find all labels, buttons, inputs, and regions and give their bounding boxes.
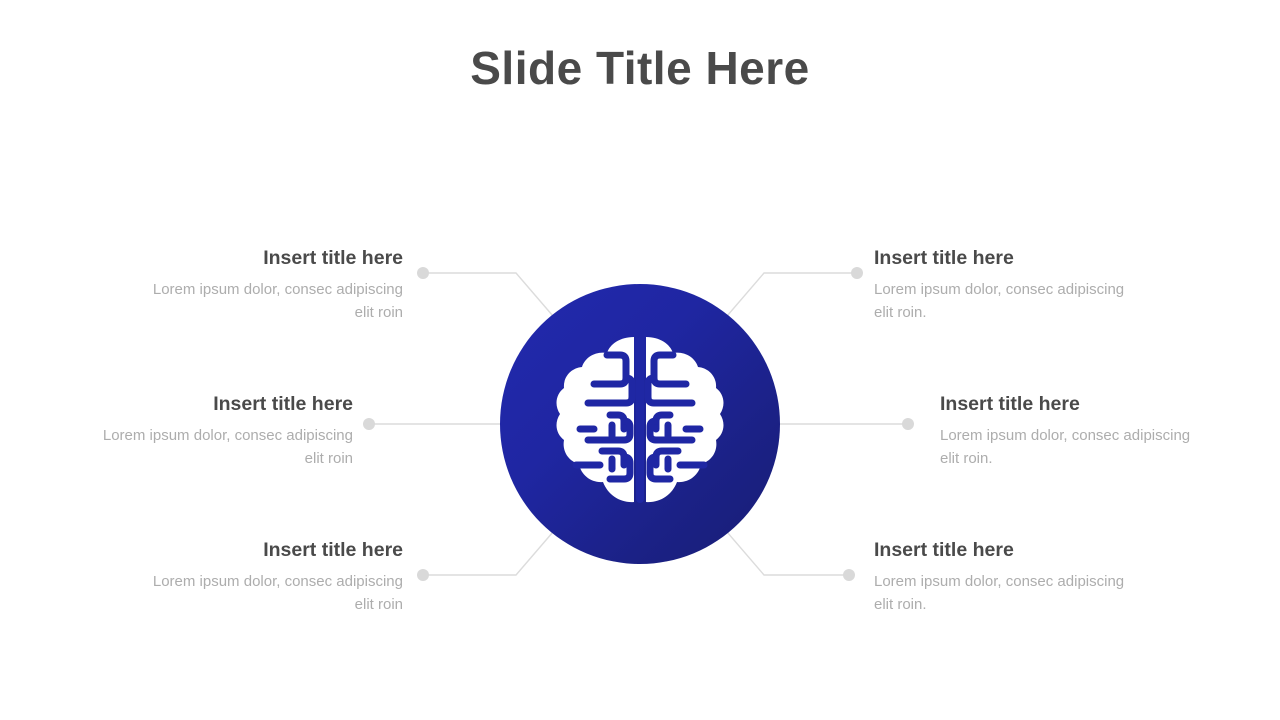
callout-title: Insert title here — [85, 391, 353, 417]
callout-description: Lorem ipsum dolor, consec adipiscing eli… — [85, 424, 353, 470]
brain-icon — [554, 333, 726, 515]
callout-title: Insert title here — [135, 537, 403, 563]
callout-item-top-left[interactable]: Insert title here Lorem ipsum dolor, con… — [135, 245, 403, 324]
connector-dot-middle-right — [902, 418, 914, 430]
callout-item-top-right[interactable]: Insert title here Lorem ipsum dolor, con… — [874, 245, 1142, 324]
callout-item-bottom-left[interactable]: Insert title here Lorem ipsum dolor, con… — [135, 537, 403, 616]
connector-dot-top-right — [851, 267, 863, 279]
connector-dot-bottom-left — [417, 569, 429, 581]
center-node[interactable] — [500, 284, 780, 564]
connector-dot-bottom-right — [843, 569, 855, 581]
callout-description: Lorem ipsum dolor, consec adipiscing eli… — [940, 424, 1208, 470]
callout-item-middle-right[interactable]: Insert title here Lorem ipsum dolor, con… — [940, 391, 1208, 470]
callout-title: Insert title here — [874, 537, 1142, 563]
callout-description: Lorem ipsum dolor, consec adipiscing eli… — [135, 570, 403, 616]
callout-item-middle-left[interactable]: Insert title here Lorem ipsum dolor, con… — [85, 391, 353, 470]
callout-description: Lorem ipsum dolor, consec adipiscing eli… — [874, 570, 1142, 616]
connector-dot-middle-left — [363, 418, 375, 430]
callout-item-bottom-right[interactable]: Insert title here Lorem ipsum dolor, con… — [874, 537, 1142, 616]
slide-canvas: Slide Title Here — [0, 0, 1280, 720]
callout-description: Lorem ipsum dolor, consec adipiscing eli… — [135, 278, 403, 324]
callout-description: Lorem ipsum dolor, consec adipiscing eli… — [874, 278, 1142, 324]
callout-title: Insert title here — [940, 391, 1208, 417]
callout-title: Insert title here — [135, 245, 403, 271]
callout-title: Insert title here — [874, 245, 1142, 271]
connector-dot-top-left — [417, 267, 429, 279]
